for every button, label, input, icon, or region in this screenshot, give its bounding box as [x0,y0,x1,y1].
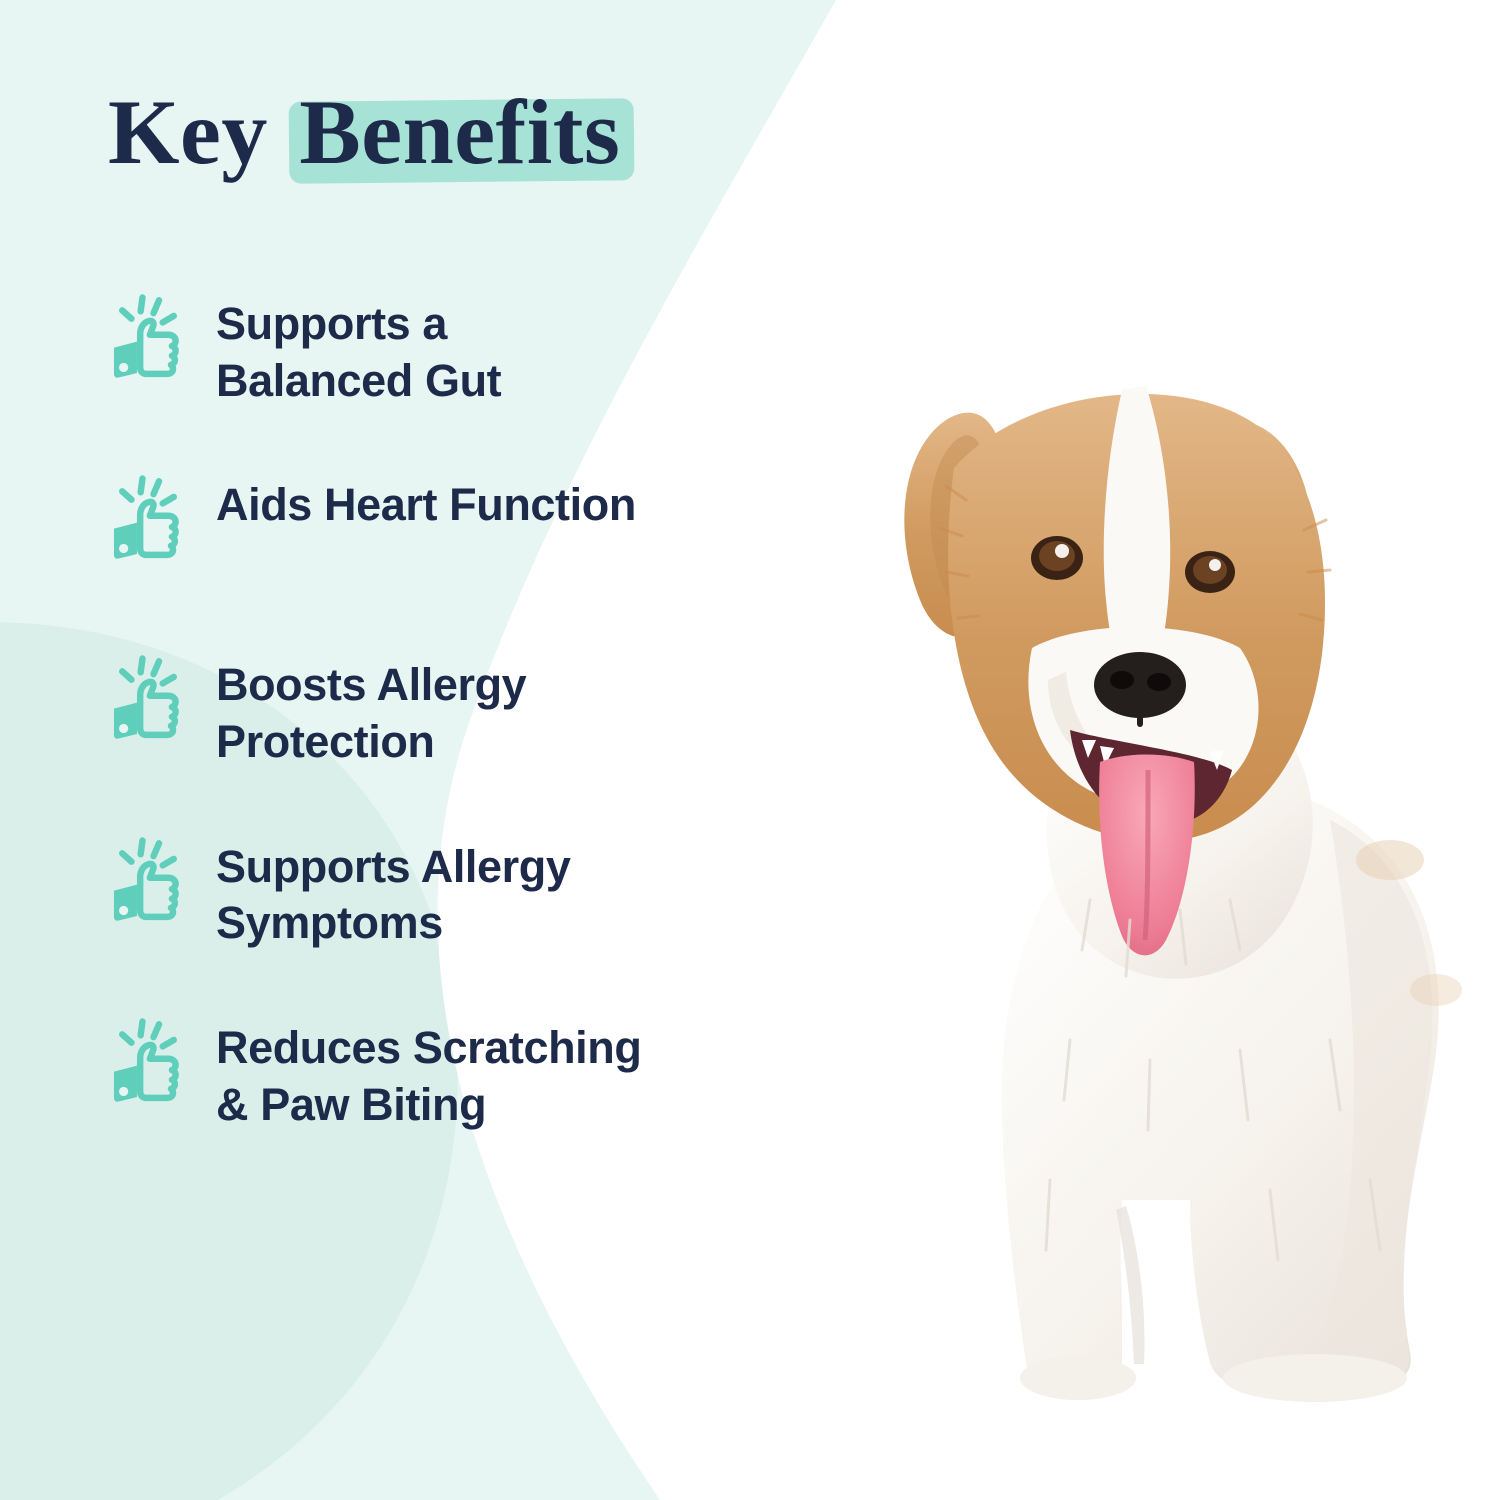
dog-front-paw-right [1223,1354,1407,1402]
thumbs-up-icon [102,653,194,745]
thumbs-up-icon [102,292,194,384]
page-title-plain: Key [108,81,291,183]
benefit-label: Reduces Scratching & Paw Biting [216,1010,641,1133]
dog-photo [770,300,1500,1440]
benefits-list: Supports a Balanced Gut Aids Heart Funct… [102,286,762,1134]
benefit-label: Supports Allergy Symptoms [216,829,570,952]
benefit-label: Aids Heart Function [216,467,636,534]
benefit-item: Supports a Balanced Gut [102,286,762,409]
page-title: Key Benefits [108,86,628,178]
thumbs-up-icon [102,1016,194,1108]
key-benefits-graphic: Key Benefits Supports a Balanced Gut [0,0,1500,1500]
benefit-item: Reduces Scratching & Paw Biting [102,1010,762,1133]
benefit-label: Supports a Balanced Gut [216,286,501,409]
page-title-highlight: Benefits [291,86,628,178]
benefit-label: Boosts Allergy Protection [216,647,526,770]
thumbs-up-icon [102,473,194,565]
benefit-item: Boosts Allergy Protection [102,647,762,770]
thumbs-up-icon [102,835,194,927]
benefit-item: Aids Heart Function [102,467,762,565]
dog-front-paw-left [1020,1356,1136,1400]
benefit-item: Supports Allergy Symptoms [102,829,762,952]
